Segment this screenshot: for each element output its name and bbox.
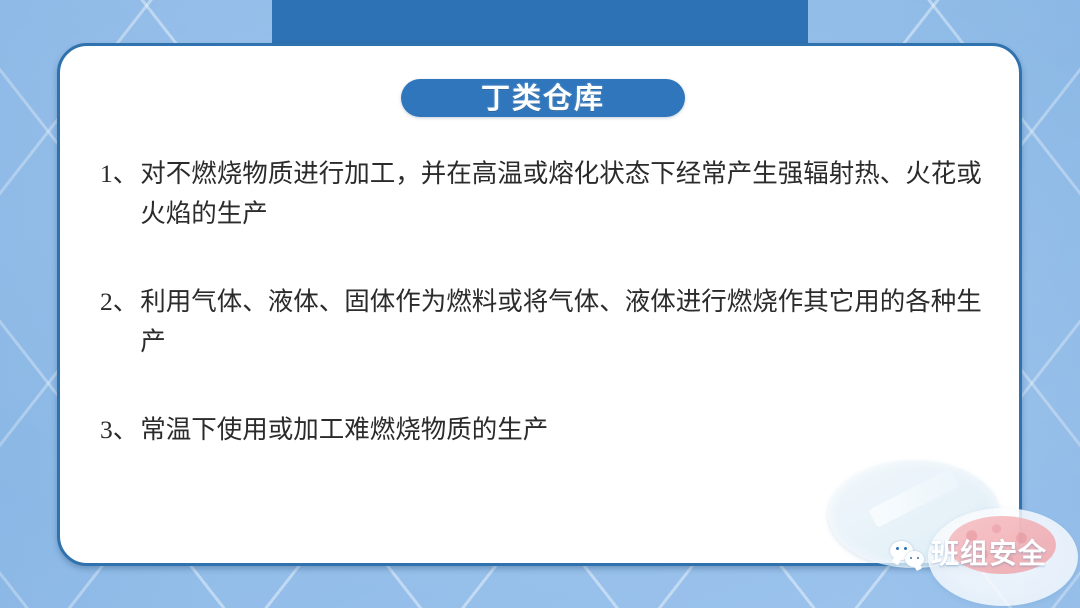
page-title: 丁类仓库 <box>481 84 605 113</box>
watermark-label: 班组安全 <box>890 540 1047 568</box>
slide-canvas: 丁类仓库 1、 对不燃烧物质进行加工，并在高温或熔化状态下经常产生强辐射热、火花… <box>0 0 1080 608</box>
list-item-text: 利用气体、液体、固体作为燃料或将气体、液体进行燃烧作其它用的各种生产 <box>140 282 991 362</box>
content-card: 丁类仓库 1、 对不燃烧物质进行加工，并在高温或熔化状态下经常产生强辐射热、火花… <box>57 43 1022 566</box>
wechat-bubble-small <box>905 551 924 567</box>
list-item-text: 对不燃烧物质进行加工，并在高温或熔化状态下经常产生强辐射热、火花或火焰的生产 <box>140 154 991 234</box>
title-badge: 丁类仓库 <box>401 79 685 117</box>
list-item: 3、 常温下使用或加工难燃烧物质的生产 <box>100 410 991 450</box>
watermark-account-name: 班组安全 <box>931 540 1047 568</box>
list-item: 1、 对不燃烧物质进行加工，并在高温或熔化状态下经常产生强辐射热、火花或火焰的生… <box>100 154 991 234</box>
wechat-dot <box>904 547 907 550</box>
list-item-marker: 3、 <box>100 410 140 450</box>
wechat-icon <box>890 541 924 567</box>
wechat-dot <box>917 557 920 560</box>
content-list: 1、 对不燃烧物质进行加工，并在高温或熔化状态下经常产生强辐射热、火花或火焰的生… <box>100 154 991 450</box>
wechat-dot <box>910 557 913 560</box>
list-item: 2、 利用气体、液体、固体作为燃料或将气体、液体进行燃烧作其它用的各种生产 <box>100 282 991 362</box>
list-item-marker: 1、 <box>100 154 140 194</box>
decorative-band-top <box>272 0 808 47</box>
wechat-dot <box>896 547 899 550</box>
list-item-text: 常温下使用或加工难燃烧物质的生产 <box>140 410 991 450</box>
list-item-marker: 2、 <box>100 282 140 322</box>
